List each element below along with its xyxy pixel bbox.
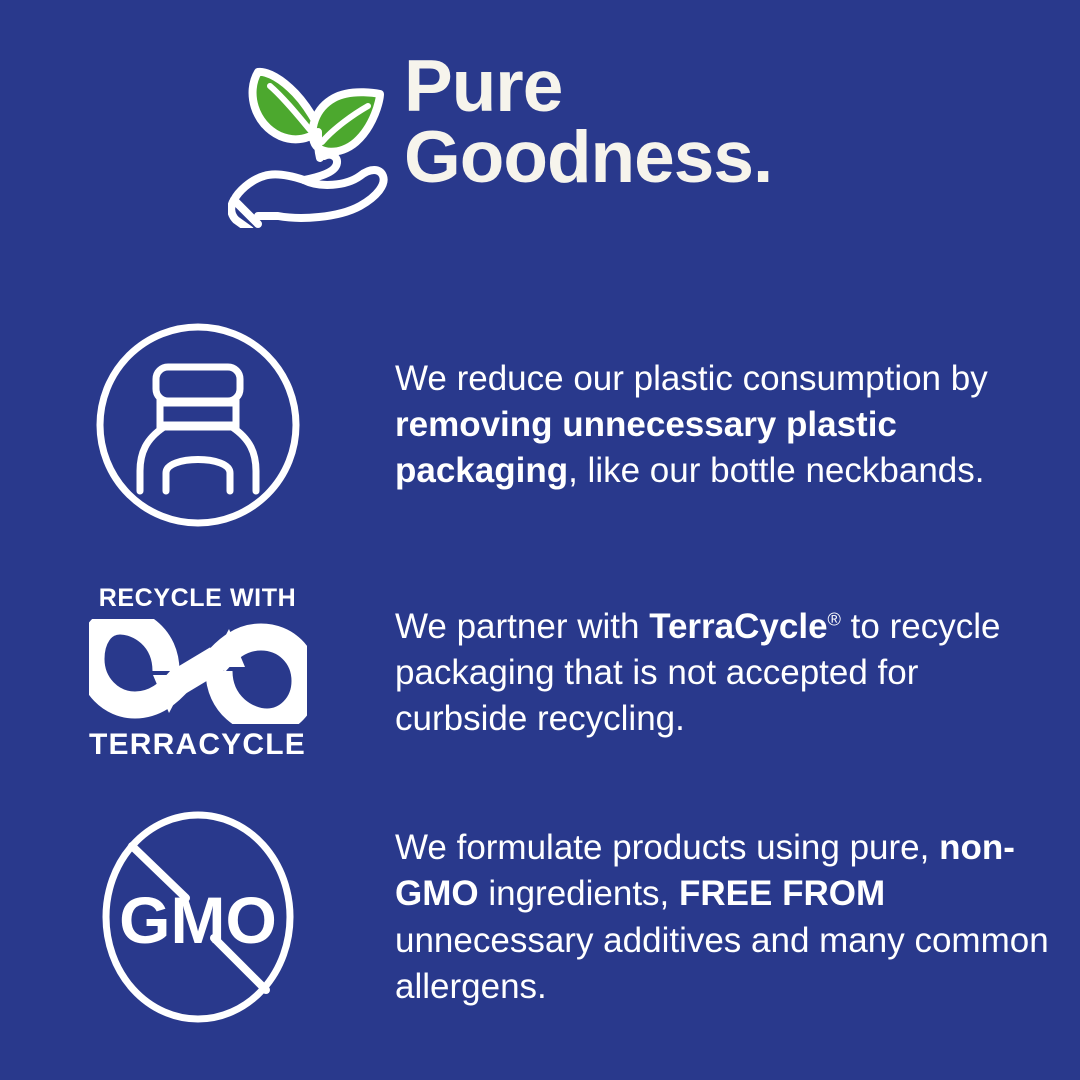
page-title: Pure Goodness. (404, 52, 772, 194)
feature-row-terracycle: RECYCLE WITH R TERRA (0, 548, 1080, 798)
text-segment: We partner with (395, 607, 649, 646)
text-segment: unnecessary additives and many common al… (395, 921, 1049, 1006)
text-segment: We reduce our plastic consumption by (395, 359, 988, 398)
terracycle-top-label: RECYCLE WITH (99, 584, 296, 613)
registered-mark: ® (828, 609, 841, 629)
hand-holding-sprout-icon (228, 58, 390, 228)
gmo-icon-label: GMO (119, 883, 277, 957)
feature-row-plastic: We reduce our plastic consumption by rem… (0, 300, 1080, 550)
text-segment: , like our bottle neckbands. (568, 451, 984, 490)
text-segment-bold: FREE FROM (679, 874, 885, 913)
bottle-in-circle-icon (94, 321, 302, 529)
text-segment-bold: TerraCycle (649, 607, 827, 646)
infinity-arrows-icon: R (89, 619, 307, 724)
feature-text-terracycle: We partner with TerraCycle® to recycle p… (395, 604, 1080, 743)
page-title-line1: Pure (404, 46, 562, 127)
feature-text-plastic: We reduce our plastic consumption by rem… (395, 356, 1080, 495)
bottle-icon-cell (0, 321, 395, 529)
feature-paragraph: We reduce our plastic consumption by rem… (395, 356, 1050, 495)
feature-paragraph: We formulate products using pure, non-GM… (395, 825, 1050, 1010)
header-logo-block: Pure Goodness. (0, 0, 1080, 300)
no-gmo-icon: GMO (94, 810, 302, 1025)
text-segment: We formulate products using pure, (395, 828, 939, 867)
svg-text:R: R (295, 715, 300, 721)
terracycle-logo-cell: RECYCLE WITH R TERRA (0, 584, 395, 762)
feature-paragraph: We partner with TerraCycle® to recycle p… (395, 604, 1050, 743)
feature-text-gmo: We formulate products using pure, non-GM… (395, 825, 1080, 1010)
terracycle-logo: RECYCLE WITH R TERRA (88, 584, 308, 762)
page-title-line2: Goodness. (404, 123, 772, 194)
gmo-icon-cell: GMO (0, 810, 395, 1025)
terracycle-bottom-label: TERRACYCLE (89, 728, 306, 762)
feature-row-gmo: GMO We formulate products using pure, no… (0, 790, 1080, 1045)
text-segment: ingredients, (479, 874, 679, 913)
